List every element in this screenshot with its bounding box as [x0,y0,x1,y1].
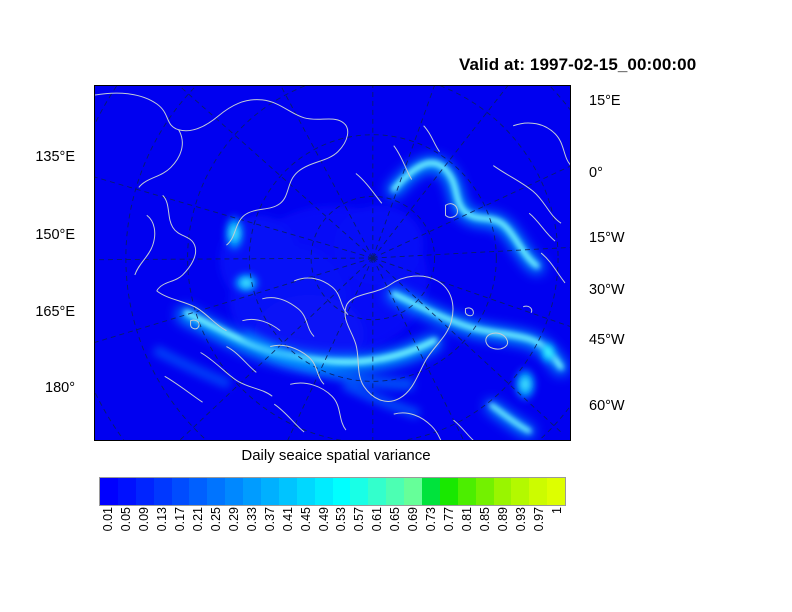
colorbar-tick-label: 0.17 [174,507,187,531]
colorbar-segment [368,478,386,505]
colorbar[interactable]: 0.010.050.090.130.170.210.250.290.330.37… [99,477,566,506]
plot-caption-text: Daily seaice spatial variance [241,447,430,464]
colorbar-segment [172,478,190,505]
colorbar-tick-label: 0.41 [282,507,295,531]
axis-label-right: 60°W [589,398,625,414]
figure-title: Valid at: 1997-02-15_00:00:00 [459,55,696,75]
colorbar-segment [225,478,243,505]
colorbar-segment [422,478,440,505]
colorbar-tick-label: 0.33 [246,507,259,531]
colorbar-tick-label: 0.05 [120,507,133,531]
map-plot-area[interactable] [94,85,571,441]
axis-label-right: 15°W [589,230,625,246]
colorbar-tick-label: 0.77 [443,507,456,531]
colorbar-segment [315,478,333,505]
polar-stereographic-map [95,86,570,440]
colorbar-tick-label: 0.49 [318,507,331,531]
colorbar-segment [100,478,118,505]
colorbar-segment [118,478,136,505]
figure-canvas: Valid at: 1997-02-15_00:00:00 [0,0,792,612]
axis-label-left: 135°E [0,149,75,165]
colorbar-segment [207,478,225,505]
colorbar-segment [440,478,458,505]
colorbar-segment [136,478,154,505]
colorbar-segment [189,478,207,505]
colorbar-tick-label: 0.09 [138,507,151,531]
colorbar-tick-label: 0.85 [479,507,492,531]
colorbar-segment [350,478,368,505]
colorbar-segment [261,478,279,505]
axis-label-right: 15°E [589,93,621,109]
colorbar-tick-label: 0.01 [102,507,115,531]
colorbar-tick-label: 0.57 [353,507,366,531]
colorbar-segment [458,478,476,505]
colorbar-tick-label: 0.81 [461,507,474,531]
axis-label-left: 165°E [0,304,75,320]
colorbar-tick-label: 0.69 [407,507,420,531]
colorbar-tick-label: 1 [551,507,564,514]
colorbar-segment [511,478,529,505]
colorbar-tick-label: 0.13 [156,507,169,531]
colorbar-tick-label: 0.53 [335,507,348,531]
colorbar-tick-labels: 0.010.050.090.130.170.210.250.290.330.37… [99,507,566,577]
colorbar-tick-label: 0.97 [533,507,546,531]
colorbar-segment [333,478,351,505]
colorbar-tick-label: 0.61 [371,507,384,531]
plot-caption: Daily seaice spatial variance [0,447,792,464]
axis-label-left: 180° [0,380,75,396]
axis-label-right: 30°W [589,282,625,298]
colorbar-segment [386,478,404,505]
colorbar-tick-label: 0.93 [515,507,528,531]
colorbar-tick-label: 0.45 [300,507,313,531]
colorbar-tick-label: 0.25 [210,507,223,531]
colorbar-tick-label: 0.29 [228,507,241,531]
colorbar-segment [529,478,547,505]
axis-label-right: 45°W [589,332,625,348]
colorbar-segment [154,478,172,505]
colorbar-segment [297,478,315,505]
axis-label-left: 150°E [0,227,75,243]
colorbar-gradient [99,477,566,506]
colorbar-segment [243,478,261,505]
colorbar-tick-label: 0.21 [192,507,205,531]
colorbar-tick-label: 0.37 [264,507,277,531]
axis-label-right: 0° [589,165,603,181]
colorbar-segment [476,478,494,505]
colorbar-tick-label: 0.65 [389,507,402,531]
colorbar-segment [494,478,512,505]
colorbar-segment [547,478,565,505]
colorbar-segment [404,478,422,505]
colorbar-tick-label: 0.89 [497,507,510,531]
colorbar-tick-label: 0.73 [425,507,438,531]
colorbar-segment [279,478,297,505]
